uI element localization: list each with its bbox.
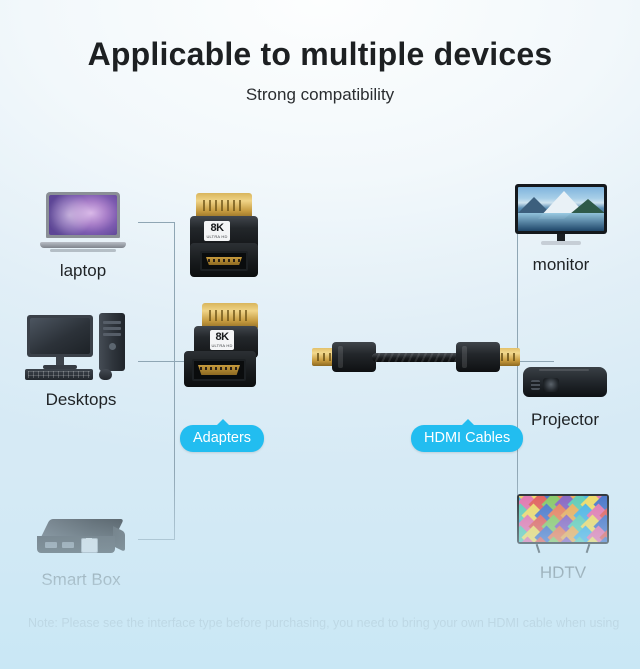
page-title: Applicable to multiple devices — [0, 36, 640, 73]
page-subtitle: Strong compatibility — [0, 85, 640, 105]
badge-adapters: Adapters — [180, 425, 264, 452]
hdtv-icon — [498, 480, 628, 556]
badge-hdmi-cables: HDMI Cables — [411, 425, 523, 452]
desktop-computer-icon — [16, 307, 146, 383]
smart-box-icon — [16, 487, 146, 563]
device-desktop: Desktops — [16, 307, 146, 410]
device-laptop: laptop — [18, 178, 148, 281]
device-label-smart-box: Smart Box — [16, 570, 146, 590]
hdmi-cable-wire — [372, 353, 464, 362]
hdmi-adapter-bottom: 8K ULTRA HD — [178, 303, 274, 407]
device-monitor: monitor — [496, 172, 626, 275]
adapter-spec-badge: 8K ULTRA HD — [204, 221, 230, 241]
device-hdtv: HDTV — [498, 480, 628, 583]
adapter-spec-secondary: ULTRA HD — [206, 235, 227, 239]
hdmi-adapter-top: 8K ULTRA HD — [178, 193, 274, 297]
device-label-projector: Projector — [500, 410, 630, 430]
device-smart-box: Smart Box — [16, 487, 146, 590]
device-label-hdtv: HDTV — [498, 563, 628, 583]
hdmi-connector-left-icon — [312, 342, 378, 372]
adapter-spec-primary: 8K — [210, 223, 223, 234]
device-label-monitor: monitor — [496, 255, 626, 275]
monitor-icon — [496, 172, 626, 248]
adapter-spec-primary: 8K — [215, 332, 228, 343]
device-label-desktop: Desktops — [16, 390, 146, 410]
footer-note: Note: Please see the interface type befo… — [28, 616, 640, 630]
device-label-laptop: laptop — [18, 261, 148, 281]
hdmi-cable-product — [312, 336, 520, 380]
hdmi-connector-right-icon — [454, 342, 520, 372]
adapter-spec-badge: 8K ULTRA HD — [210, 330, 234, 350]
adapter-female-port-icon — [192, 359, 246, 381]
product-infographic: Applicable to multiple devices Strong co… — [0, 0, 640, 669]
adapter-spec-secondary: ULTRA HD — [211, 344, 232, 348]
laptop-icon — [18, 178, 148, 254]
adapter-female-port-icon — [200, 251, 248, 271]
